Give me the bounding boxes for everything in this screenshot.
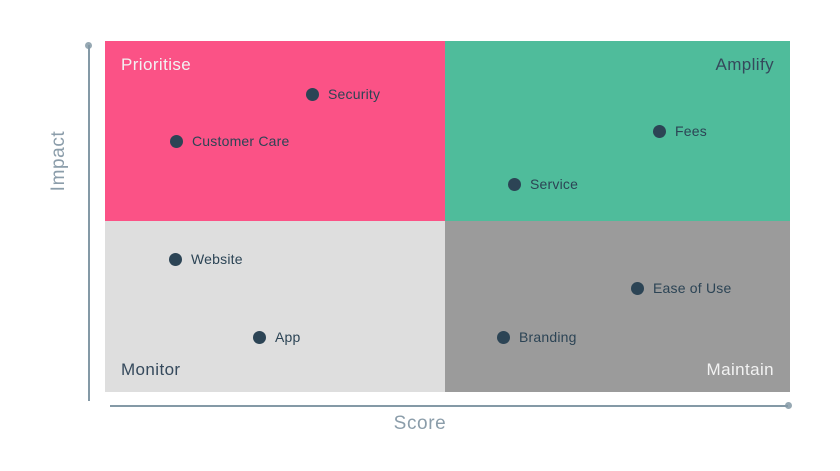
data-point-label: App — [275, 329, 301, 345]
data-point[interactable]: Customer Care — [170, 133, 290, 149]
data-point[interactable]: Branding — [497, 329, 577, 345]
data-point-marker-icon — [253, 331, 266, 344]
y-axis-title: Impact — [48, 96, 70, 226]
data-point-marker-icon — [170, 135, 183, 148]
data-point-label: Fees — [675, 123, 707, 139]
data-point-marker-icon — [653, 125, 666, 138]
data-point[interactable]: Fees — [653, 123, 707, 139]
quadrant-prioritise[interactable]: Prioritise — [105, 41, 445, 221]
quadrant-maintain[interactable]: Maintain — [445, 221, 790, 392]
data-point-marker-icon — [497, 331, 510, 344]
axis-arrow-right-icon — [785, 402, 792, 409]
y-axis-line — [88, 45, 90, 401]
quadrant-label-prioritise: Prioritise — [121, 55, 191, 75]
data-point[interactable]: Website — [169, 251, 243, 267]
x-axis-line — [110, 405, 788, 407]
data-point[interactable]: Security — [306, 86, 380, 102]
data-point-label: Ease of Use — [653, 280, 731, 296]
x-axis-title: Score — [0, 413, 840, 435]
data-point-label: Service — [530, 176, 578, 192]
data-point[interactable]: Service — [508, 176, 578, 192]
data-point[interactable]: App — [253, 329, 301, 345]
axis-arrow-up-icon — [85, 42, 92, 49]
quadrant-label-maintain: Maintain — [707, 360, 774, 380]
quadrant-matrix: Prioritise Amplify Monitor Maintain — [105, 41, 790, 392]
quadrant-amplify[interactable]: Amplify — [445, 41, 790, 221]
quadrant-label-amplify: Amplify — [715, 55, 774, 75]
data-point[interactable]: Ease of Use — [631, 280, 731, 296]
data-point-marker-icon — [306, 88, 319, 101]
data-point-marker-icon — [631, 282, 644, 295]
data-point-marker-icon — [508, 178, 521, 191]
quadrant-monitor[interactable]: Monitor — [105, 221, 445, 392]
data-point-label: Security — [328, 86, 380, 102]
data-point-marker-icon — [169, 253, 182, 266]
data-point-label: Customer Care — [192, 133, 290, 149]
quadrant-chart-canvas: Impact Score Prioritise Amplify Monitor … — [0, 0, 840, 471]
data-point-label: Website — [191, 251, 243, 267]
data-point-label: Branding — [519, 329, 577, 345]
quadrant-label-monitor: Monitor — [121, 360, 181, 380]
